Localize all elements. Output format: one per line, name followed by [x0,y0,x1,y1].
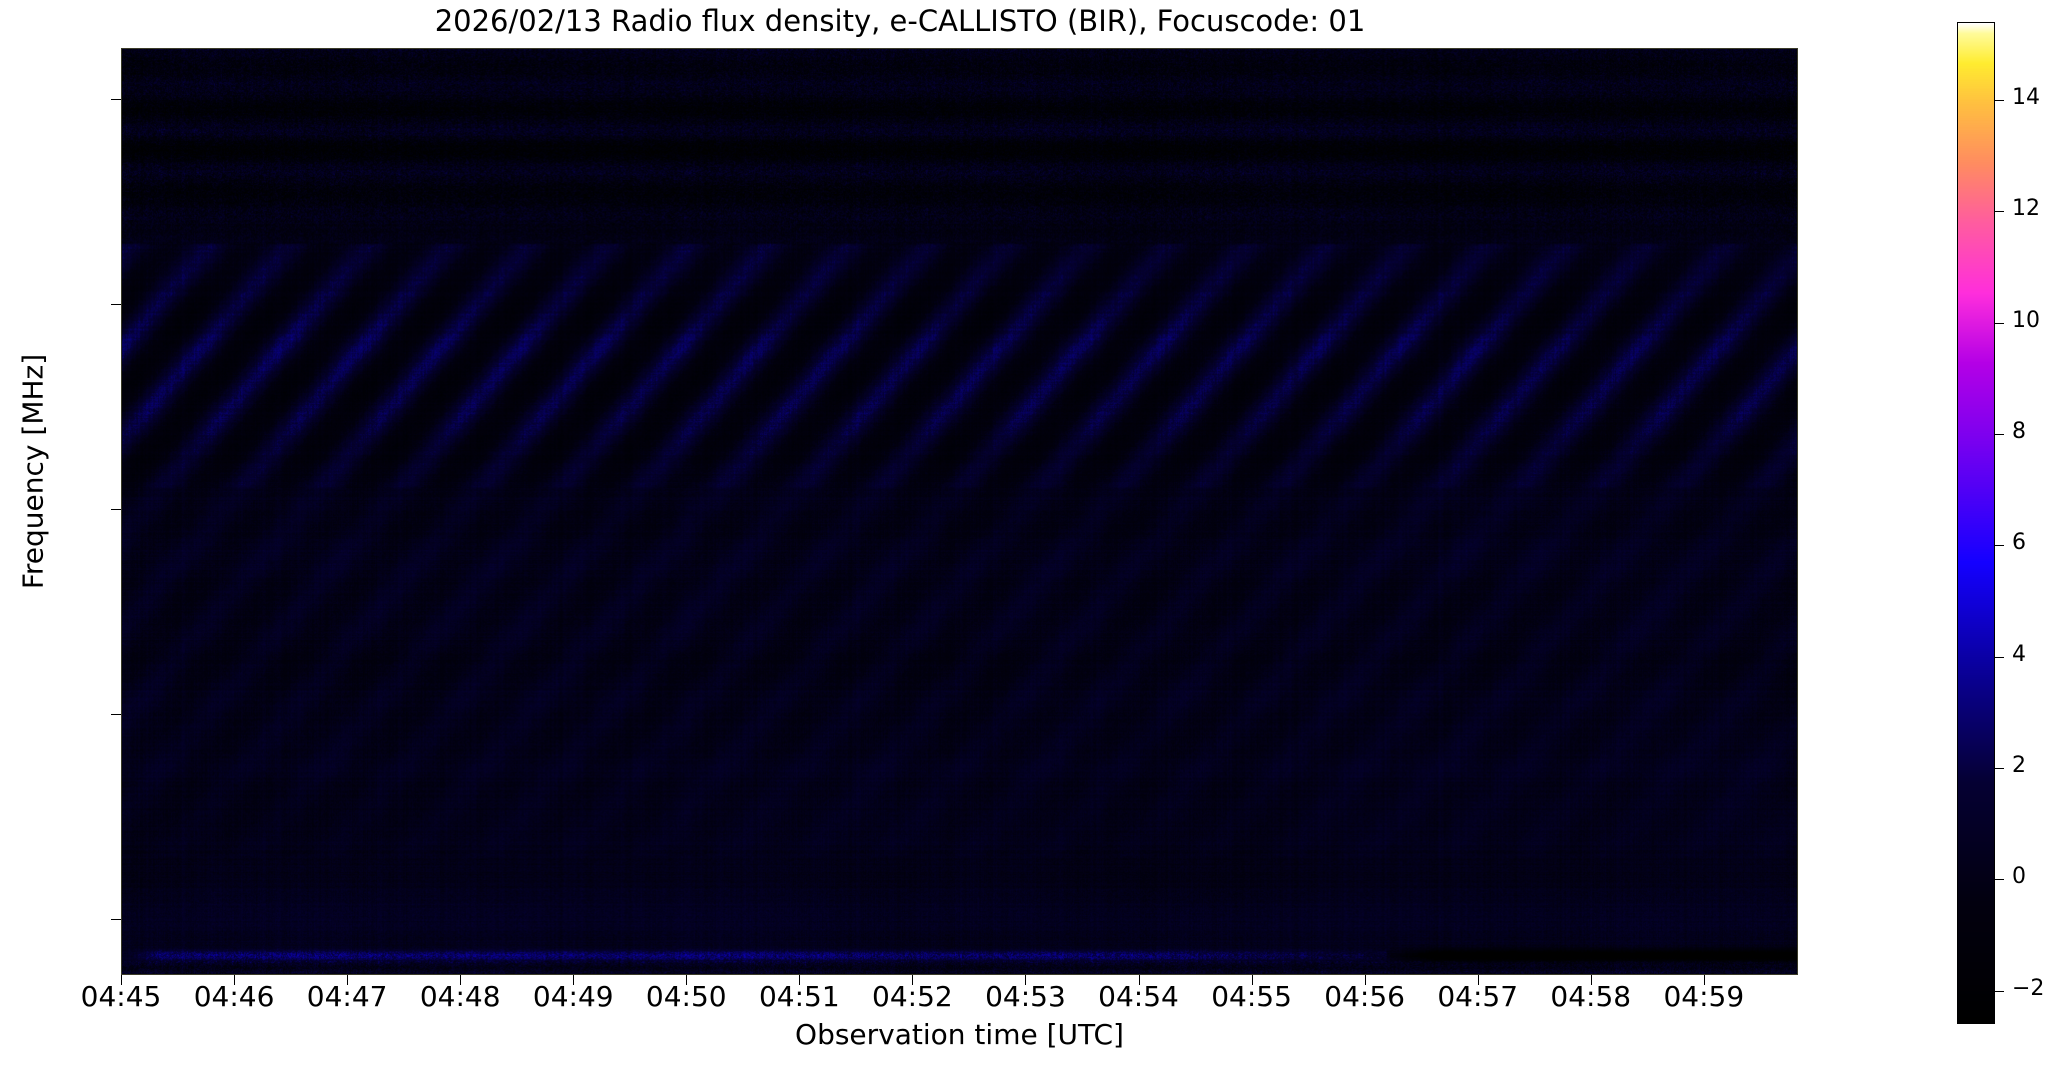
x-axis-tick-mark [686,975,687,985]
y-axis-label: Frequency [MHz] [17,7,50,937]
colorbar-tick-mark [1995,323,2004,324]
colorbar-tick-label: 12 [2012,196,2066,221]
colorbar-tick-label: 10 [2012,308,2066,333]
x-axis-tick-mark [1478,975,1479,985]
colorbar-tick-mark [1995,100,2004,101]
y-axis-tick-mark [111,99,121,100]
y-axis-tick-mark [111,919,121,920]
colorbar-tick-label: 4 [2012,642,2066,667]
x-axis-tick-mark [1591,975,1592,985]
x-axis-tick-mark [573,975,574,985]
y-axis-tick-mark [111,714,121,715]
spectrogram-axes[interactable] [121,48,1798,975]
spectrogram-figure: 2026/02/13 Radio flux density, e-CALLIST… [0,0,2066,1067]
colorbar-tick-mark [1995,657,2004,658]
colorbar-tick-label: 2 [2012,753,2066,778]
x-axis-label: Observation time [UTC] [121,1018,1798,1051]
colorbar-tick-mark [1995,434,2004,435]
colorbar-tick-mark [1995,545,2004,546]
x-axis-tick-mark [234,975,235,985]
x-axis-tick-mark [1139,975,1140,985]
x-axis-tick-mark [1365,975,1366,985]
spectrogram-image [122,49,1797,974]
x-axis-tick-mark [460,975,461,985]
colorbar-tick-label: 6 [2012,530,2066,555]
page-title: 2026/02/13 Radio flux density, e-CALLIST… [0,4,1800,38]
x-axis-tick-mark [1704,975,1705,985]
colorbar-tick-label: 0 [2012,864,2066,889]
colorbar-gradient [1958,23,1994,1023]
x-axis-tick-mark [1025,975,1026,985]
colorbar-tick-label: −2 [2012,976,2066,1001]
colorbar[interactable] [1957,22,1995,1024]
colorbar-tick-mark [1995,768,2004,769]
x-axis-tick-mark [121,975,122,985]
x-axis-tick-mark [799,975,800,985]
x-axis-tick-mark [912,975,913,985]
y-axis-tick-mark [111,509,121,510]
colorbar-tick-mark [1995,879,2004,880]
x-axis-tick-mark [1252,975,1253,985]
colorbar-tick-mark [1995,211,2004,212]
colorbar-tick-mark [1995,991,2004,992]
x-axis-tick-mark [347,975,348,985]
y-axis-tick-mark [111,304,121,305]
colorbar-tick-label: 8 [2012,419,2066,444]
colorbar-tick-label: 14 [2012,85,2066,110]
